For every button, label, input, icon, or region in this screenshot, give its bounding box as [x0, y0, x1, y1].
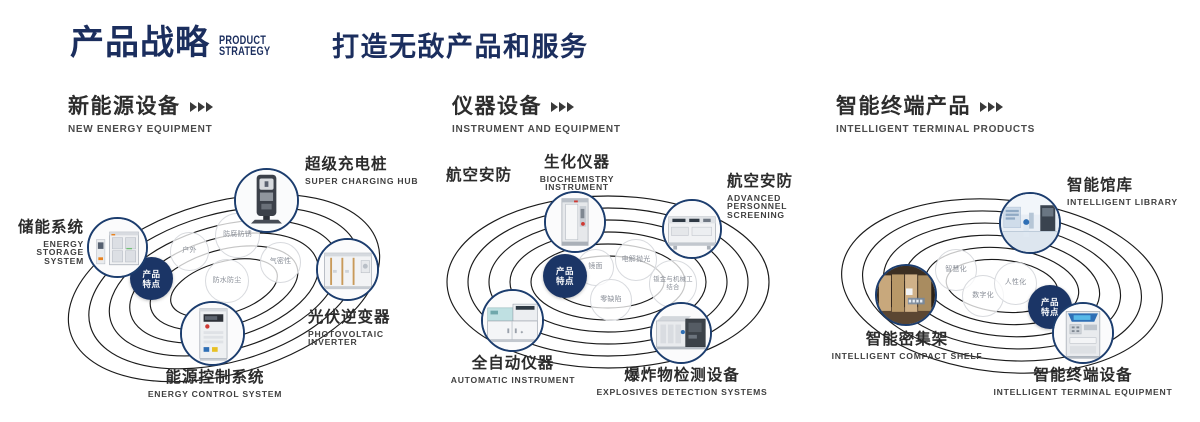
- pv-inverter-icon: [318, 240, 377, 299]
- section-title-cn: 新能源设备: [68, 96, 181, 117]
- section-title-en: INSTRUMENT AND EQUIPMENT: [452, 124, 621, 135]
- caption-en: ENERGY CONTROL SYSTEM: [90, 390, 340, 399]
- section-heading-instrument: 仪器设备 INSTRUMENT AND EQUIPMENT: [452, 96, 621, 135]
- caption-cn: 智能密集架: [812, 332, 1002, 348]
- caption-biochemistry-instrument: 生化仪器 BIOCHEMISTRY INSTRUMENT: [522, 155, 632, 192]
- chevron-right-icon: [980, 102, 1003, 112]
- node-intelligent-library[interactable]: [999, 192, 1061, 254]
- section-heading-new-energy: 新能源设备 NEW ENERGY EQUIPMENT: [68, 96, 213, 135]
- product-feature-badge: 产品 特点: [543, 254, 587, 298]
- section-title-cn: 仪器设备: [452, 96, 542, 117]
- node-energy-storage[interactable]: [87, 217, 148, 278]
- caption-cn: 生化仪器: [522, 155, 632, 171]
- caption-en: INTELLIGENT LIBRARY: [1067, 198, 1178, 207]
- charging-pile-icon: [236, 170, 297, 231]
- caption-en: AUTOMATIC INSTRUMENT: [428, 376, 598, 385]
- caption-cn: 储能系统: [0, 220, 84, 236]
- section-title-cn: 智能终端产品: [836, 96, 971, 117]
- chevron-right-icon: [551, 102, 574, 112]
- feature-bubble: 气密性: [260, 242, 301, 283]
- feature-bubble: 防水防尘: [205, 259, 249, 303]
- caption-energy-control-system: 能源控制系统 ENERGY CONTROL SYSTEM: [90, 370, 340, 398]
- caption-cn: 航空安防: [402, 168, 512, 184]
- node-automatic-instrument[interactable]: ◈: [481, 289, 544, 352]
- caption-en: INTELLIGENT COMPACT SHELF: [812, 352, 1002, 361]
- caption-en: INTELLIGENT TERMINAL EQUIPMENT: [980, 388, 1186, 397]
- caption-cn: 全自动仪器: [428, 356, 598, 372]
- feature-bubble-label: 钣金与机械工结合: [650, 276, 696, 291]
- caption-energy-storage: 储能系统 ENERGY STORAGE SYSTEM: [0, 220, 84, 265]
- self-service-kiosk-icon: [1054, 304, 1112, 362]
- caption-intelligent-compact-shelf: 智能密集架 INTELLIGENT COMPACT SHELF: [812, 332, 1002, 360]
- energy-storage-cabinet-icon: [89, 219, 146, 276]
- caption-intelligent-terminal-equipment: 智能终端设备 INTELLIGENT TERMINAL EQUIPMENT: [980, 368, 1186, 396]
- caption-explosives-detection: 爆炸物检测设备 EXPLOSIVES DETECTION SYSTEMS: [596, 368, 768, 396]
- section-title-en: NEW ENERGY EQUIPMENT: [68, 124, 213, 135]
- feature-bubble-label: 防水防尘: [213, 277, 242, 286]
- control-cabinet-icon: [182, 303, 243, 364]
- feature-bubble-label: 户外: [182, 247, 196, 256]
- page-title-en: PRODUCT STRATEGY: [219, 36, 270, 58]
- caption-cn: 能源控制系统: [90, 370, 340, 386]
- caption-intelligent-library: 智能馆库 INTELLIGENT LIBRARY: [1067, 178, 1178, 206]
- cluster-intelligent-terminal: 智慧化 数字化 人性化 产品 特点: [800, 160, 1200, 410]
- product-strategy-infographic: 产品战略 PRODUCT STRATEGY 打造无敌产品和服务 新能源设备 NE…: [0, 0, 1200, 422]
- section-heading-intelligent-terminal: 智能终端产品 INTELLIGENT TERMINAL PRODUCTS: [836, 96, 1035, 135]
- page-subtitle: 打造无敌产品和服务: [332, 34, 589, 61]
- badge-line1: 产品: [556, 266, 574, 276]
- node-intelligent-compact-shelf[interactable]: [875, 264, 937, 326]
- page-title-cn: 产品战略: [70, 26, 210, 60]
- feature-bubble-label: 数字化: [972, 292, 994, 301]
- feature-bubble: 零缺陷: [590, 279, 632, 321]
- feature-bubble-label: 镜面: [588, 263, 602, 272]
- caption-aviation-security: 航空安防: [402, 168, 512, 184]
- caption-cn: 智能终端设备: [980, 368, 1186, 384]
- cluster-new-energy: 户外 防腐防锈 防水防尘 气密性 产品 特点: [28, 160, 428, 410]
- node-pv-inverter[interactable]: [316, 238, 379, 301]
- feature-bubble-label: 智慧化: [945, 266, 967, 275]
- caption-pv-inverter: 光伏逆变器 PHOTOVOLTAIC INVERTER: [308, 310, 428, 347]
- feature-bubble-label: 人性化: [1005, 279, 1027, 288]
- caption-cn: 爆炸物检测设备: [596, 368, 768, 384]
- feature-bubble: 钣金与机械工结合: [649, 260, 697, 308]
- section-title-en: INTELLIGENT TERMINAL PRODUCTS: [836, 124, 1035, 135]
- feature-bubble-label: 气密性: [270, 258, 292, 267]
- caption-en: EXPLOSIVES DETECTION SYSTEMS: [596, 388, 768, 397]
- node-energy-control-system[interactable]: [180, 301, 245, 366]
- caption-en: PHOTOVOLTAIC INVERTER: [308, 330, 428, 347]
- chevron-right-icon: [190, 102, 213, 112]
- biochem-scanner-icon: [546, 193, 604, 251]
- feature-bubble-label: 电解抛光: [622, 256, 651, 265]
- library-interior-icon: [1001, 194, 1059, 252]
- badge-line2: 特点: [556, 276, 574, 286]
- caption-cn: 智能馆库: [1067, 178, 1178, 194]
- automatic-analyzer-icon: ◈: [483, 291, 542, 350]
- badge-line2: 特点: [142, 279, 160, 289]
- screening-machine-icon: [664, 201, 720, 257]
- explosive-detector-icon: [652, 304, 710, 362]
- node-biochemistry-instrument[interactable]: [544, 191, 606, 253]
- node-intelligent-terminal-equipment[interactable]: [1052, 302, 1114, 364]
- feature-bubble: 户外: [170, 232, 209, 271]
- caption-automatic-instrument: 全自动仪器 AUTOMATIC INSTRUMENT: [428, 356, 598, 384]
- cluster-instrument: 镜面 电解抛光 零缺陷 钣金与机械工结合 产品 特点: [412, 160, 812, 410]
- node-explosives-detection[interactable]: [650, 302, 712, 364]
- caption-cn: 光伏逆变器: [308, 310, 428, 326]
- compact-shelving-icon: [877, 266, 935, 324]
- feature-bubble-label: 零缺陷: [600, 296, 622, 305]
- page-title: 产品战略 PRODUCT STRATEGY: [70, 26, 283, 60]
- caption-en: BIOCHEMISTRY INSTRUMENT: [522, 175, 632, 192]
- node-super-charging-hub[interactable]: [234, 168, 299, 233]
- caption-en: ENERGY STORAGE SYSTEM: [0, 240, 84, 266]
- node-personnel-screening[interactable]: [662, 199, 722, 259]
- page-title-en-line2: STRATEGY: [219, 47, 270, 58]
- feature-bubble-label: 防腐防锈: [223, 231, 252, 240]
